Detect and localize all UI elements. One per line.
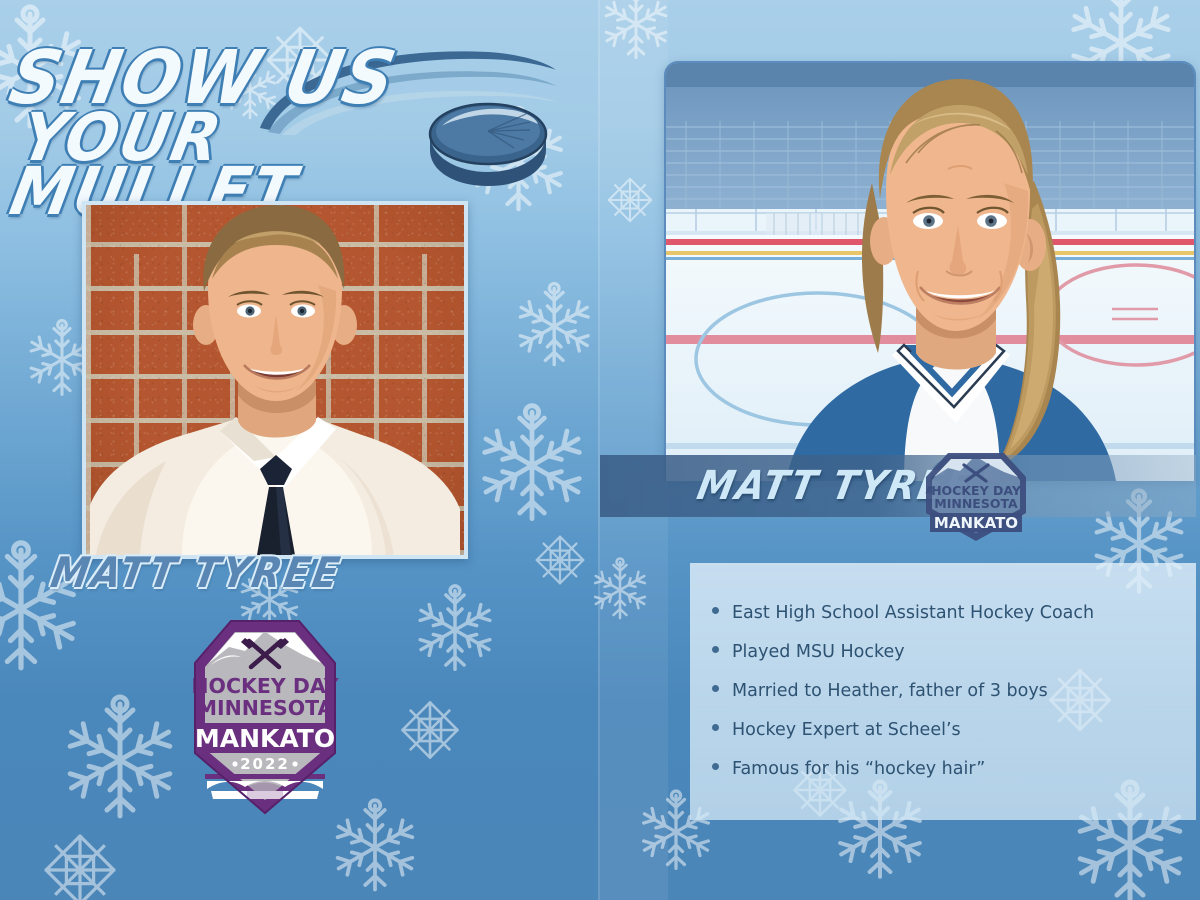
logo-city: MANKATO — [195, 724, 335, 753]
headline-block: SHOW US YOUR MULLET — [8, 48, 568, 198]
bullet-dot-icon — [712, 763, 719, 770]
bullet-dot-icon — [712, 685, 719, 692]
poster-canvas: SHOW US YOUR MULLET — [0, 0, 1200, 900]
logo-year: 2022 — [240, 755, 290, 773]
bullet-dot-icon — [712, 724, 719, 731]
cartoon-name-banner: MATT TYREE — [600, 455, 1196, 517]
banner-hdm-badge: HOCKEY DAY MINNESOTA MANKATO — [920, 447, 1032, 548]
cartoon-portrait-panel — [664, 61, 1196, 481]
bullet-text: Played MSU Hockey — [732, 642, 905, 662]
photo-name-label: MATT TYREE — [47, 548, 345, 597]
bullet-text: East High School Assistant Hockey Coach — [732, 603, 1094, 623]
headshot-person-illustration — [86, 205, 464, 555]
list-item: Played MSU Hockey — [712, 642, 1196, 681]
vertical-divider — [598, 0, 600, 900]
badge-line-2: MINNESOTA — [934, 496, 1018, 511]
hockey-day-minnesota-logo: HOCKEY DAY MINNESOTA MANKATO 2022 — [185, 611, 345, 826]
badge-city: MANKATO — [934, 514, 1018, 532]
bullet-text: Married to Heather, father of 3 boys — [732, 681, 1048, 701]
list-item: Hockey Expert at Scheel’s — [712, 720, 1196, 759]
bullet-text: Hockey Expert at Scheel’s — [732, 720, 961, 740]
logo-line-2: MINNESOTA — [197, 696, 334, 720]
bullet-dot-icon — [712, 646, 719, 653]
page-title: SHOW US YOUR MULLET — [0, 48, 529, 219]
bio-bullet-panel: East High School Assistant Hockey Coach … — [690, 563, 1196, 820]
bullet-text: Famous for his “hockey hair” — [732, 759, 985, 779]
headshot-photo — [86, 205, 464, 555]
cartoon-portrait-illustration — [666, 63, 1194, 481]
list-item: Married to Heather, father of 3 boys — [712, 681, 1196, 720]
panel-divider-strip — [600, 0, 668, 900]
bullet-dot-icon — [712, 607, 719, 614]
hdm-badge-icon: HOCKEY DAY MINNESOTA MANKATO — [920, 447, 1032, 543]
list-item: East High School Assistant Hockey Coach — [712, 603, 1196, 642]
headshot-photo-frame — [82, 201, 468, 559]
hdm-logo-icon: HOCKEY DAY MINNESOTA MANKATO 2022 — [185, 611, 345, 821]
list-item: Famous for his “hockey hair” — [712, 759, 1196, 798]
logo-line-1: HOCKEY DAY — [191, 674, 339, 698]
